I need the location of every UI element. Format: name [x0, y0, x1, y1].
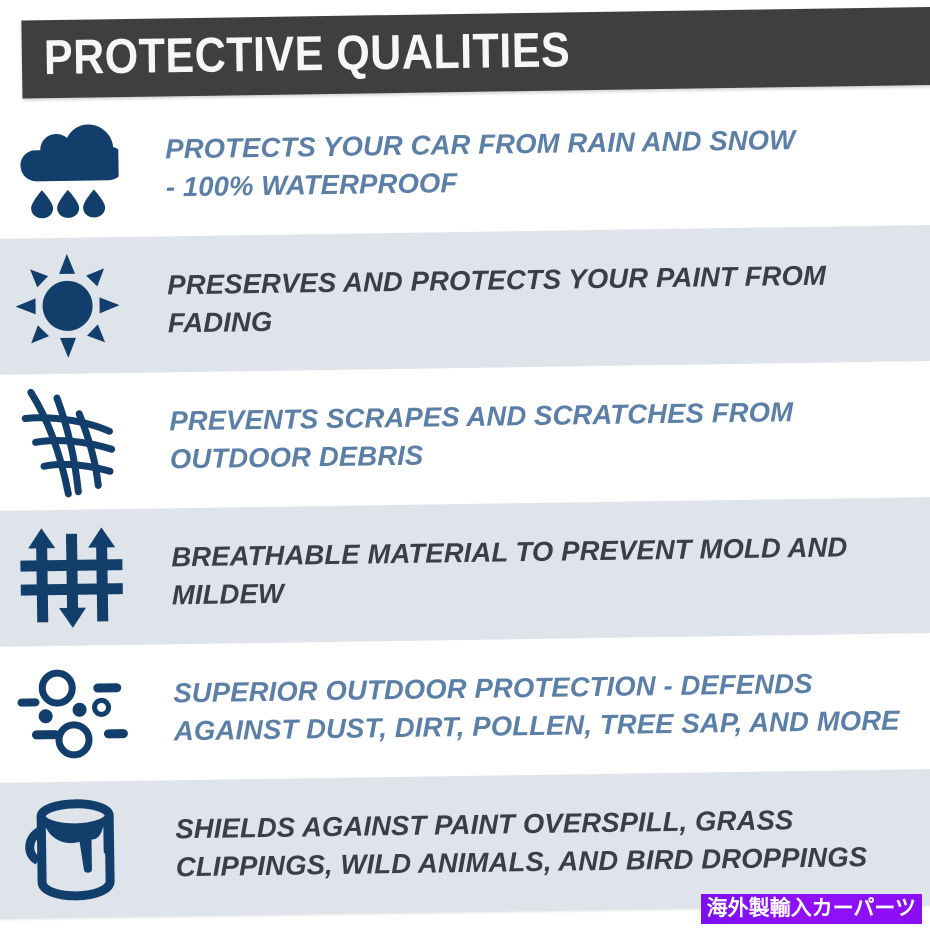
paint-can-icon: [21, 795, 131, 905]
feature-row: BREATHABLE MATERIAL TO PREVENT MOLD AND …: [0, 497, 930, 647]
icon-cell: [0, 781, 157, 919]
flyer-sheet: PROTECTIVE QUALITIES PROTECTS YOUR CAR F…: [0, 0, 930, 930]
dust-particles-icon: [15, 665, 132, 763]
feature-row: PREVENTS SCRAPES AND SCRATCHES FROM OUTD…: [0, 361, 930, 511]
icon-cell: [0, 645, 155, 783]
text-cell: PREVENTS SCRAPES AND SCRATCHES FROM OUTD…: [149, 391, 930, 479]
text-cell: SHIELDS AGAINST PAINT OVERSPILL, GRASS C…: [155, 799, 930, 887]
header-banner: PROTECTIVE QUALITIES: [21, 7, 930, 99]
sun-icon: [15, 253, 121, 359]
icon-cell: [0, 101, 147, 239]
rain-cloud-icon: [12, 119, 119, 221]
watermark-badge: 海外製輸入カーパーツ: [701, 894, 922, 924]
icon-cell: [0, 237, 149, 375]
feature-list: PROTECTS YOUR CAR FROM RAIN AND SNOW - 1…: [0, 89, 930, 919]
icon-cell: [0, 509, 153, 647]
feature-row: PRESERVES AND PROTECTS YOUR PAINT FROM F…: [0, 225, 930, 375]
text-cell: SUPERIOR OUTDOOR PROTECTION - DEFENDS AG…: [153, 663, 930, 751]
feature-row: PROTECTS YOUR CAR FROM RAIN AND SNOW - 1…: [0, 89, 930, 239]
page-title: PROTECTIVE QUALITIES: [43, 22, 570, 86]
feature-row: SUPERIOR OUTDOOR PROTECTION - DEFENDS AG…: [0, 633, 930, 783]
flyer-canvas: PROTECTIVE QUALITIES PROTECTS YOUR CAR F…: [0, 0, 930, 930]
scratches-icon: [17, 383, 123, 501]
icon-cell: [0, 373, 151, 511]
breathable-arrows-icon: [16, 525, 128, 631]
text-cell: PROTECTS YOUR CAR FROM RAIN AND SNOW - 1…: [145, 119, 930, 207]
text-cell: BREATHABLE MATERIAL TO PREVENT MOLD AND …: [151, 527, 930, 615]
text-cell: PRESERVES AND PROTECTS YOUR PAINT FROM F…: [147, 255, 930, 343]
